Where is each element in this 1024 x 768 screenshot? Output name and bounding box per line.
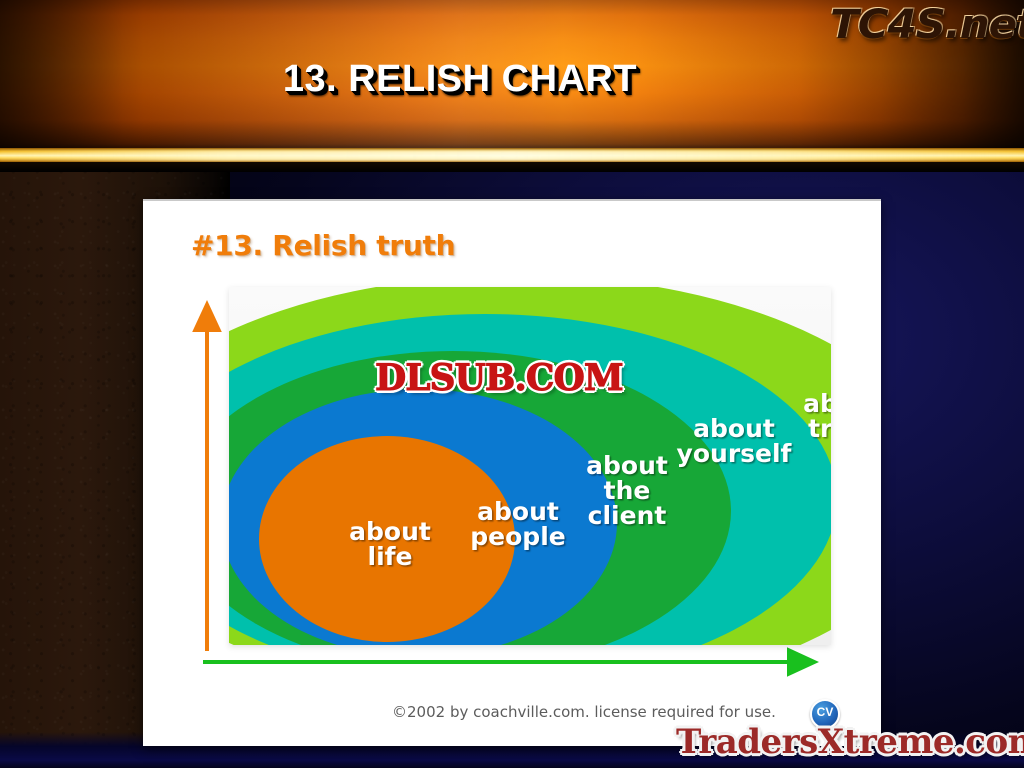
label-about-yourself: about yourself — [669, 416, 799, 466]
label-about-the-client: about the client — [574, 453, 680, 528]
page-title: 13. RELISH CHART — [0, 58, 920, 101]
header-underline — [0, 162, 1024, 172]
slide-canvas: 13. RELISH CHART TC4S.net #13. Relish tr… — [0, 0, 1024, 768]
watermark-tradersxtreme: TradersXtreme.com — [676, 722, 1024, 762]
panel-heading: #13. Relish truth — [191, 229, 455, 262]
coachville-logo-text: CV — [812, 705, 838, 719]
slide-panel: #13. Relish truth RESPECT FOR TRUTH ACCE… — [143, 199, 881, 746]
chart-plot-area: about truthabout yourselfabout the clien… — [229, 287, 831, 645]
header-stripe-glow — [0, 150, 1024, 161]
label-about-people: about people — [459, 499, 577, 549]
label-about-life: about life — [325, 519, 455, 569]
watermark-tc4s: TC4S.net — [830, 2, 1024, 48]
copyright-credit: ©2002 by coachville.com. license require… — [392, 703, 776, 721]
watermark-dlsub: DLSUB.COM — [375, 357, 623, 399]
